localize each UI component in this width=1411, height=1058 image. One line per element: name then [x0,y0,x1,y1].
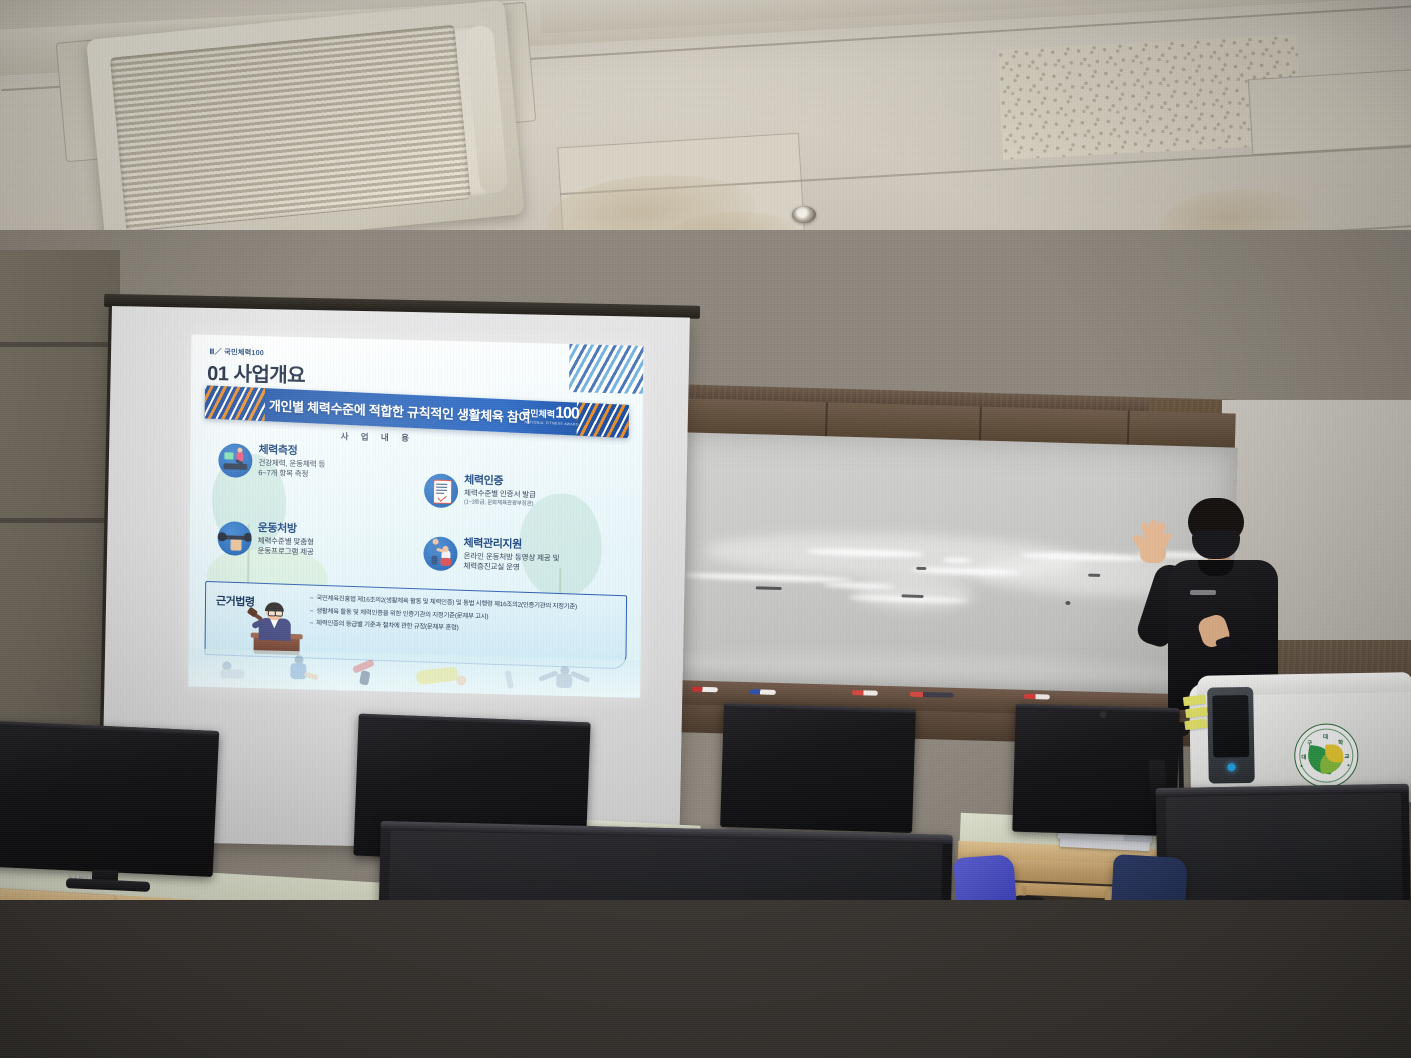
item-desc-1: 체력수준별 인증서 발급 [464,488,536,500]
slide-item-fitness-management-support: 체력관리지원 온라인 운동처방 동영상 제공 및 체력증진교실 운영 [423,536,633,575]
slide-item-fitness-measurement: 체력측정 건강체력, 운동체력 등 6~7개 항목 측정 [218,443,408,482]
slide-ribbon-banner: 개인별 체력수준에 적합한 규칙적인 생활체육 참여 국민체력100 NATIO… [205,385,629,438]
logo-korean-text: 국민체력 [522,408,555,420]
marker-red[interactable] [910,692,954,698]
whiteboard-mark [1065,601,1070,605]
whiteboard-mark [756,586,782,590]
slide-title: 01 사업개요 [207,357,305,388]
jacket-logo [1190,590,1216,595]
legal-entry-text: 체력인증의 등급별 기준과 절차에 관한 규정(문체부 훈령) [316,620,458,632]
trainer-coaching-icon [423,536,457,571]
air-vent-grille [110,25,471,232]
legal-basis-list: –국민체육진흥법 제16조의2(생활체육 활동 및 체력인증) 및 동법 시행령… [310,595,620,644]
section-label: 사 업 내 용 [341,430,414,444]
legal-entry-text: 생활체육 활동 및 체력인증을 위한 인증기관의 지정기준(문체부 고시) [316,607,488,620]
emblem-char: 대 [1301,753,1306,761]
athlete-figure [284,655,324,686]
item-desc-2: 운동프로그램 제공 [257,546,313,557]
ribbon-stripes-right [577,403,629,438]
athlete-figure [218,659,254,684]
emblem-char: 대 [1323,733,1328,741]
slide-corner-stripes [569,344,643,394]
whiteboard-mark [1088,574,1100,577]
athlete-figure [348,658,388,687]
athlete-figure [500,668,530,691]
ceiling-tile [1248,69,1411,155]
emblem-char: 학 [1338,738,1343,746]
certificate-checklist-icon [424,473,458,508]
athlete-figure [538,665,590,692]
item-heading: 체력인증 [464,475,536,488]
whiteboard-mark [902,594,924,598]
logo-number: 100 [555,405,579,423]
classroom-photo: Ⅲ／ 국민체력100 01 사업개요 개인별 체력수준에 적합한 규칙적인 생활… [0,0,1411,1058]
athlete-figure [416,664,470,689]
slide-item-fitness-certification: 체력인증 체력수준별 인증서 발급 (1~3등급, 문화체육관광부장관) [424,473,624,512]
ribbon-stripes-left [205,385,265,421]
whiteboard-mark [916,567,926,570]
item-heading: 운동처방 [258,523,314,536]
projected-slide: Ⅲ／ 국민체력100 01 사업개요 개인별 체력수준에 적합한 규칙적인 생활… [188,334,643,697]
dumbbell-hand-icon [217,521,251,556]
item-desc-2: 6~7개 항목 측정 [258,468,325,479]
ceiling-air-conditioner [86,0,525,254]
floor [0,900,1411,1058]
marker-red[interactable] [1024,694,1050,700]
power-led-icon [1227,763,1235,771]
podium-touch-screen[interactable] [1212,695,1249,758]
item-heading: 체력측정 [258,445,325,458]
ribbon-headline: 개인별 체력수준에 적합한 규칙적인 생활체육 참여 [269,395,531,426]
recessed-downlight [792,206,816,223]
item-heading: 체력관리지원 [464,538,560,552]
slide-item-exercise-prescription: 운동처방 체력수준별 맞춤형 운동프로그램 제공 [217,521,407,560]
marker-blue[interactable] [750,689,776,695]
judge-illustration [250,602,304,656]
item-note: (1~3등급, 문화체육관광부장관) [464,499,536,508]
marker-red[interactable] [852,690,878,696]
monitor-back-right [720,703,916,833]
national-fitness-logo: 국민체력100 NATIONAL FITNESS AWARD [522,404,579,427]
podium-control-panel[interactable] [1207,687,1255,784]
marker-red[interactable] [692,687,718,693]
emblem-char: 구 [1307,739,1312,747]
face-mask [1192,530,1240,559]
logo-subtitle: NATIONAL FITNESS AWARD [522,421,579,427]
treadmill-runner-icon [218,443,252,478]
presenter-raised-hand [1134,520,1172,564]
monitor-back-left: SAMSUNG [0,721,219,877]
emblem-char: 교 [1344,752,1349,760]
